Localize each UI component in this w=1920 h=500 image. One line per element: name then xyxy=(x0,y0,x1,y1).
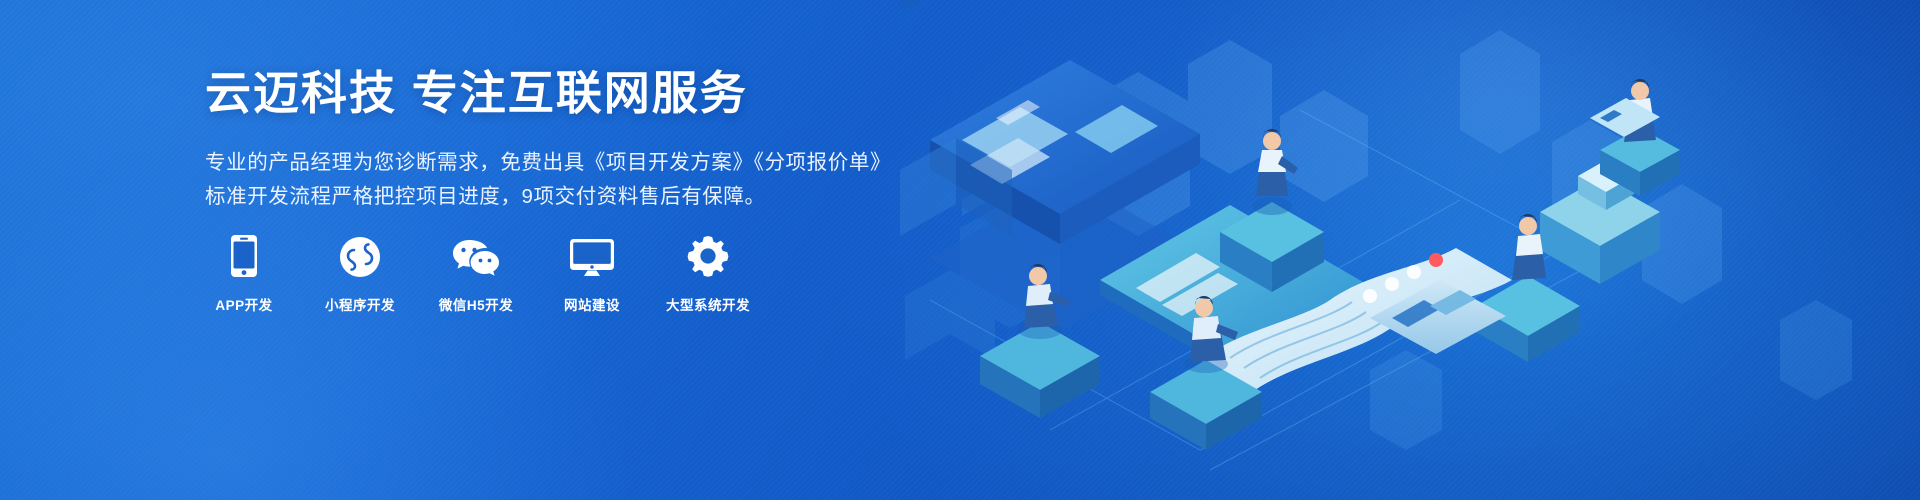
service-item-website[interactable]: 网站建设 xyxy=(553,232,631,314)
monitor-icon xyxy=(569,232,615,278)
service-item-wechat-h5[interactable]: 微信H5开发 xyxy=(437,232,515,314)
hero-banner: 云迈科技 专注互联网服务 专业的产品经理为您诊断需求，免费出具《项目开发方案》《… xyxy=(0,0,1920,500)
service-item-miniprogram[interactable]: 小程序开发 xyxy=(321,232,399,314)
mini-program-icon xyxy=(339,232,381,278)
service-item-app[interactable]: APP开发 xyxy=(205,232,283,314)
hero-copy: 云迈科技 专注互联网服务 专业的产品经理为您诊断需求，免费出具《项目开发方案》《… xyxy=(205,66,925,214)
hero-illustration xyxy=(900,0,1920,500)
service-label: 大型系统开发 xyxy=(666,294,750,314)
subtitle-line-2: 标准开发流程严格把控项目进度，9项交付资料售后有保障。 xyxy=(205,180,925,214)
page-title: 云迈科技 专注互联网服务 xyxy=(205,66,925,120)
mobile-phone-icon xyxy=(230,232,258,278)
service-label: 微信H5开发 xyxy=(439,294,513,314)
service-label: 小程序开发 xyxy=(325,294,395,314)
service-list: APP开发 小程序开发 xyxy=(205,232,747,314)
service-label: 网站建设 xyxy=(564,294,620,314)
service-label: APP开发 xyxy=(215,294,272,314)
hero-subtitle: 专业的产品经理为您诊断需求，免费出具《项目开发方案》《分项报价单》 标准开发流程… xyxy=(205,146,925,214)
gear-icon xyxy=(686,232,730,278)
subtitle-line-1: 专业的产品经理为您诊断需求，免费出具《项目开发方案》《分项报价单》 xyxy=(205,146,925,180)
wechat-icon xyxy=(451,232,501,278)
service-item-system[interactable]: 大型系统开发 xyxy=(669,232,747,314)
